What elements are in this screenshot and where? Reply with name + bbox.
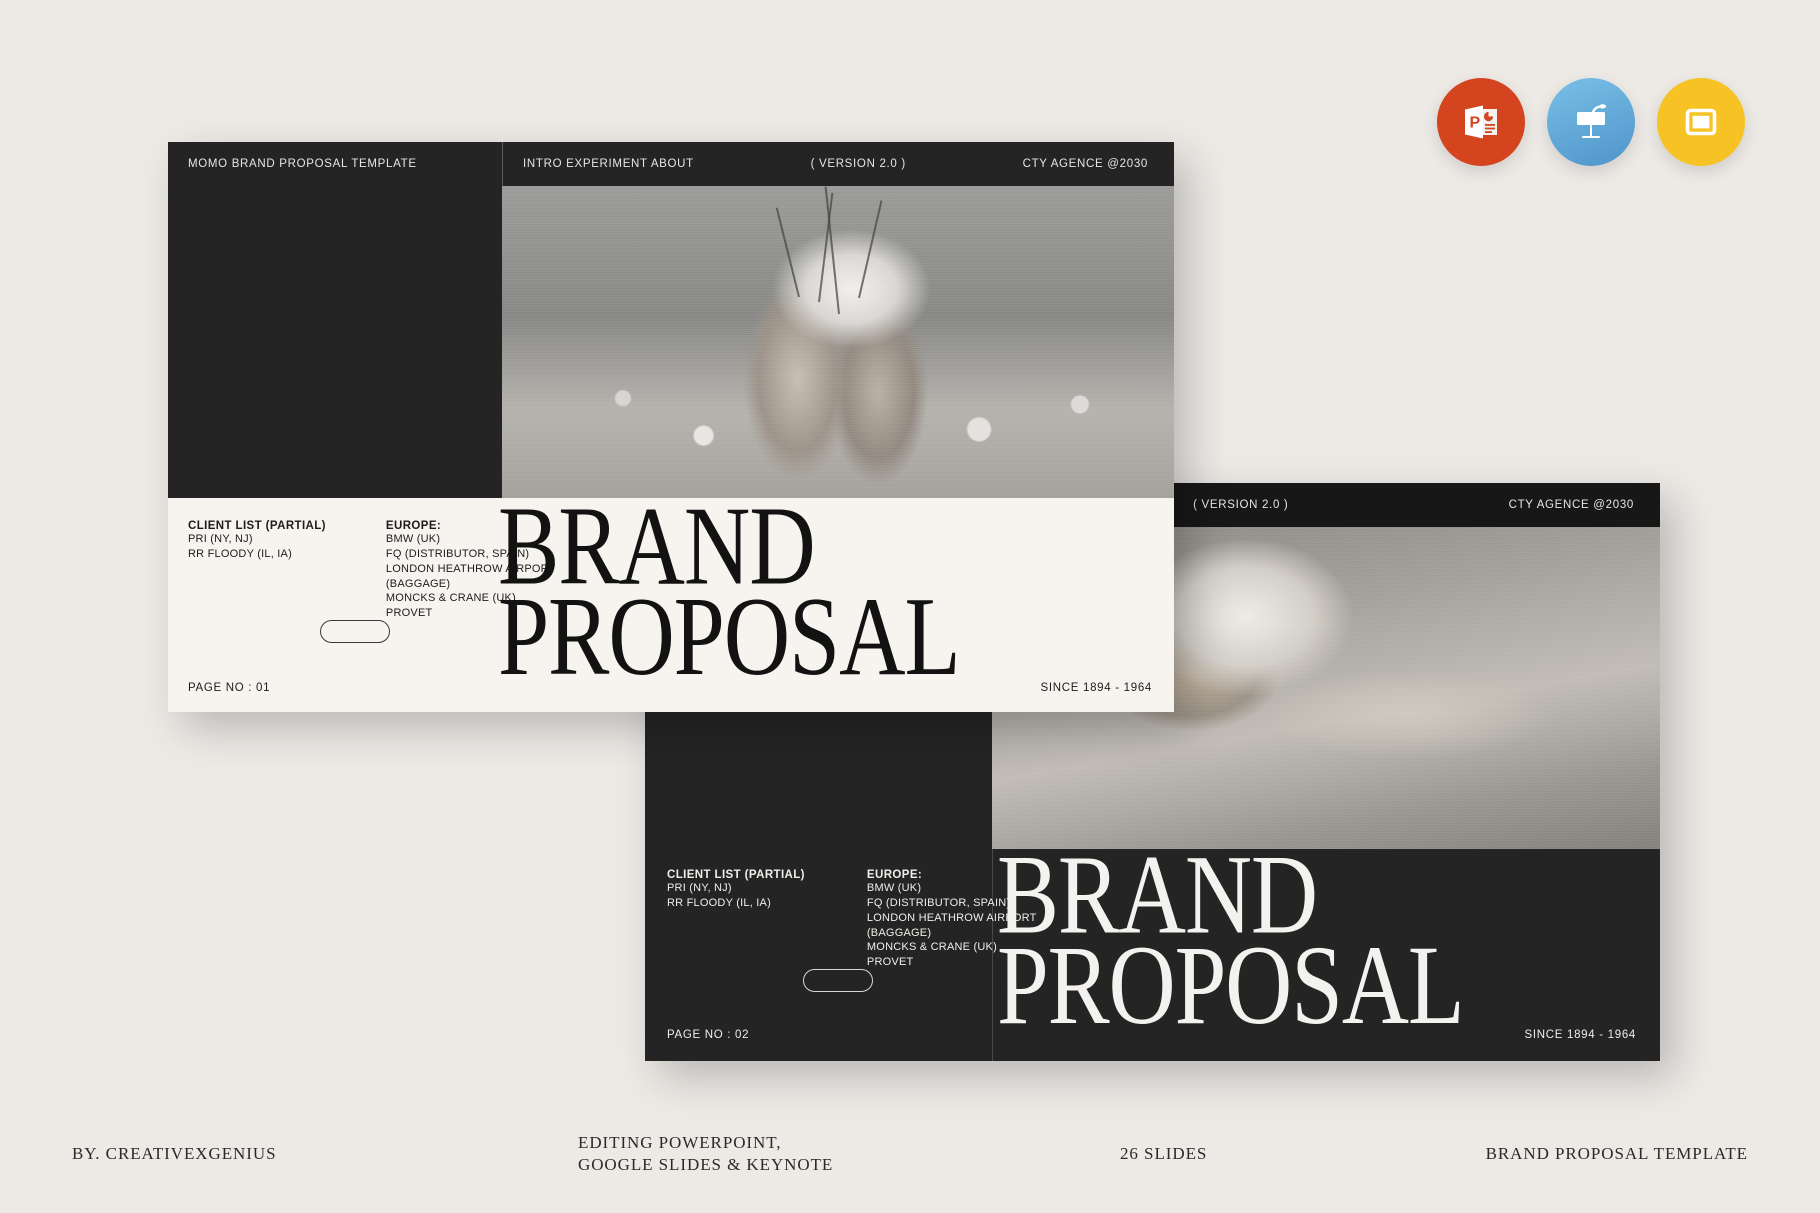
slide1-headline-line-2: PROPOSAL [498,592,960,682]
slide1-client-entry: RR FLOODY (IL, IA) [188,547,326,562]
slide1-lower-panel: CLIENT LIST (PARTIAL) PRI (NY, NJ) RR FL… [168,498,1174,712]
slide1-pill-shape [320,620,390,643]
footer-editing-line-2: GOOGLE SLIDES & KEYNOTE [578,1154,833,1176]
slide1-photo-image [502,186,1174,498]
slide1-brand-label: MOMO BRAND PROPOSAL TEMPLATE [168,142,502,186]
footer-template-name: BRAND PROPOSAL TEMPLATE [1486,1143,1748,1165]
keynote-icon [1569,100,1613,144]
google-slides-icon [1679,100,1723,144]
slide1-client-list: CLIENT LIST (PARTIAL) PRI (NY, NJ) RR FL… [188,520,326,621]
slide2-headline-line-2: PROPOSAL [997,942,1464,1033]
slide1-section-label: INTRO EXPERIMENT ABOUT [503,142,714,186]
slide1-photo [502,186,1174,498]
svg-text:P: P [1470,115,1481,132]
slide2-client-list: CLIENT LIST (PARTIAL) PRI (NY, NJ) RR FL… [667,869,805,970]
slide2-headline: BRAND PROPOSAL [997,851,1464,1033]
powerpoint-badge: P [1437,78,1525,166]
footer-author: BY. CREATIVEXGENIUS [72,1143,276,1165]
footer-editing-apps: EDITING POWERPOINT, GOOGLE SLIDES & KEYN… [578,1132,833,1176]
google-slides-badge [1657,78,1745,166]
slide1-version-label: ( VERSION 2.0 ) [714,142,1003,186]
slide1-client-entry: PRI (NY, NJ) [188,532,326,547]
slide2-page-number: PAGE NO : 02 [667,1029,749,1041]
slide-preview-1[interactable]: MOMO BRAND PROPOSAL TEMPLATE INTRO EXPER… [168,142,1174,712]
footer-editing-line-1: EDITING POWERPOINT, [578,1132,833,1154]
slide1-body [168,186,1174,498]
slide2-since-label: SINCE 1894 - 1964 [1525,1029,1636,1041]
footer-caption-bar: BY. CREATIVEXGENIUS EDITING POWERPOINT, … [0,1095,1820,1213]
slide2-meta-block: CLIENT LIST (PARTIAL) PRI (NY, NJ) RR FL… [667,869,1037,970]
slide1-headline: BRAND PROPOSAL [498,502,960,682]
slide1-agency-label: CTY AGENCE @2030 [1003,142,1174,186]
slide1-left-panel [168,186,502,498]
keynote-badge [1547,78,1635,166]
app-compatibility-badges: P [1437,78,1745,166]
slide1-topbar: MOMO BRAND PROPOSAL TEMPLATE INTRO EXPER… [168,142,1174,186]
slide2-client-entry: RR FLOODY (IL, IA) [667,896,805,911]
slide2-client-list-title: CLIENT LIST (PARTIAL) [667,869,805,881]
slide2-client-entry: PRI (NY, NJ) [667,881,805,896]
footer-slide-count: 26 SLIDES [1120,1143,1207,1165]
slide1-page-number: PAGE NO : 01 [188,682,270,694]
slide2-pill-shape [803,969,873,992]
slide2-lower-panel: CLIENT LIST (PARTIAL) PRI (NY, NJ) RR FL… [645,849,1660,1061]
slide2-agency-label: CTY AGENCE @2030 [1489,483,1660,527]
slide1-since-label: SINCE 1894 - 1964 [1041,682,1152,694]
slide1-client-list-title: CLIENT LIST (PARTIAL) [188,520,326,532]
powerpoint-icon: P [1459,100,1503,144]
